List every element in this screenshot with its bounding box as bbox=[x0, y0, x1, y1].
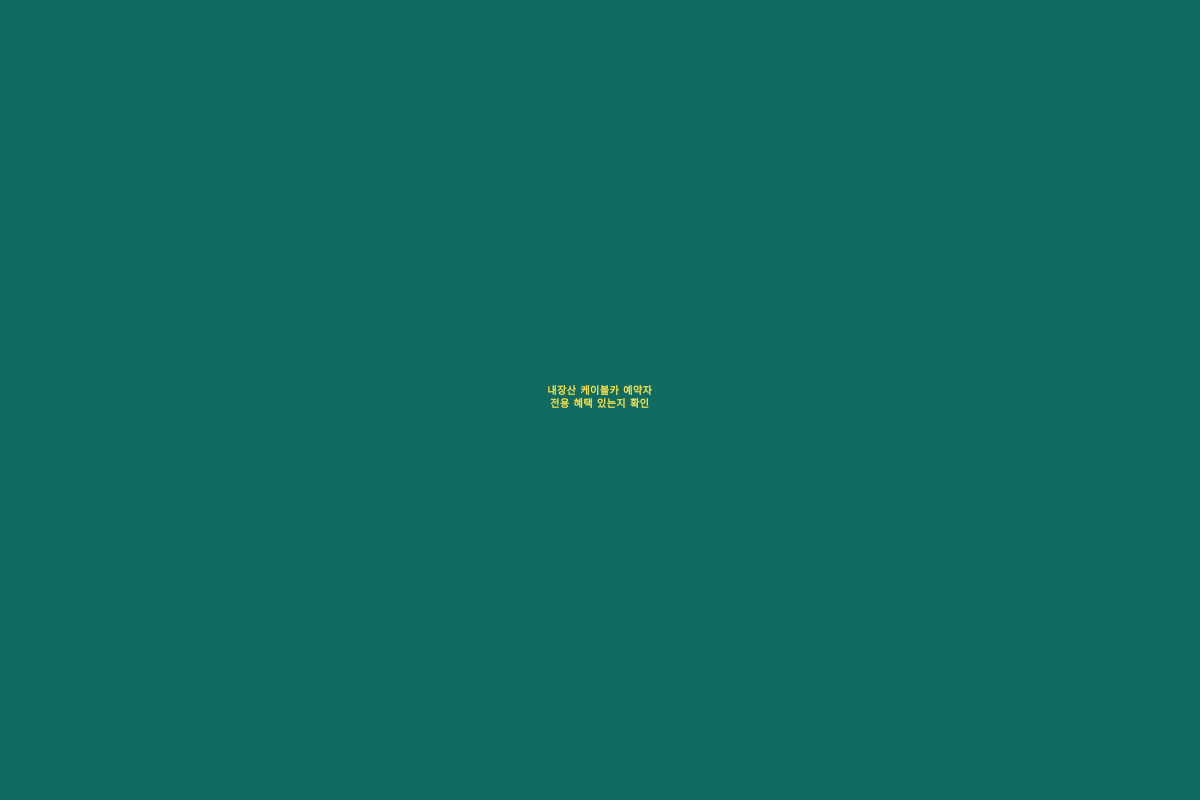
headline-line-2: 전용 혜택 있는지 확인 bbox=[40, 398, 1160, 411]
headline-line-1: 내장산 케이블카 예약자 bbox=[40, 385, 1160, 398]
headline-block: 내장산 케이블카 예약자 전용 혜택 있는지 확인 bbox=[0, 385, 1200, 412]
text-banner: 내장산 케이블카 예약자 전용 혜택 있는지 확인 bbox=[0, 0, 1200, 800]
